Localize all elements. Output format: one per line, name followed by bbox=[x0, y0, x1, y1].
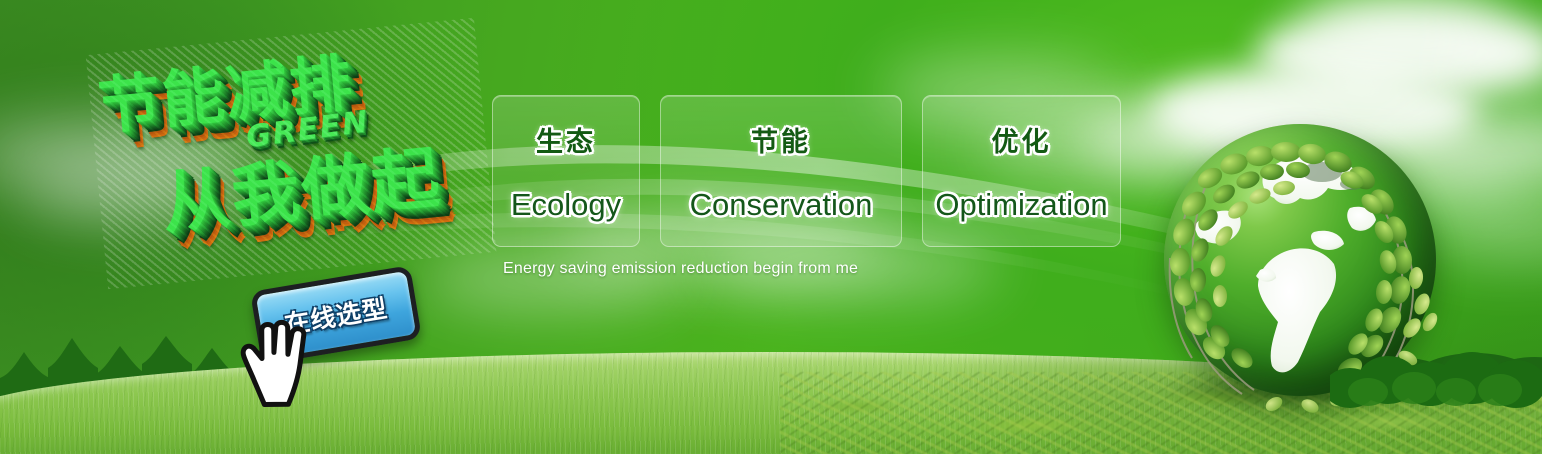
shrub-cluster-icon bbox=[1330, 340, 1542, 416]
logo-line-2: 从我做起 bbox=[157, 122, 445, 247]
banner-tagline: Energy saving emission reduction begin f… bbox=[503, 260, 858, 278]
feature-card-en-label: Conservation bbox=[690, 187, 873, 223]
feature-card-conservation[interactable]: 节能 Conservation bbox=[660, 95, 902, 247]
feature-card-cn-label: 节能 bbox=[751, 120, 811, 159]
cloud-icon bbox=[420, 250, 680, 308]
feature-card-en-label: Ecology bbox=[511, 187, 621, 223]
hand-pointer-icon bbox=[240, 316, 315, 409]
feature-card-optimization[interactable]: 优化 Optimization bbox=[922, 95, 1121, 247]
eco-hero-banner: 节能减排 GREEN 从我做起 在线选型 生态 Ecology 节能 Conse… bbox=[0, 0, 1542, 454]
feature-card-cn-label: 优化 bbox=[992, 120, 1052, 159]
feature-card-list: 生态 Ecology 节能 Conservation 优化 Optimizati… bbox=[492, 95, 1121, 247]
feature-card-en-label: Optimization bbox=[935, 187, 1107, 223]
feature-card-ecology[interactable]: 生态 Ecology bbox=[492, 95, 640, 247]
feature-card-cn-label: 生态 bbox=[536, 120, 596, 159]
headline-3d-logo: 节能减排 GREEN 从我做起 bbox=[86, 18, 497, 289]
